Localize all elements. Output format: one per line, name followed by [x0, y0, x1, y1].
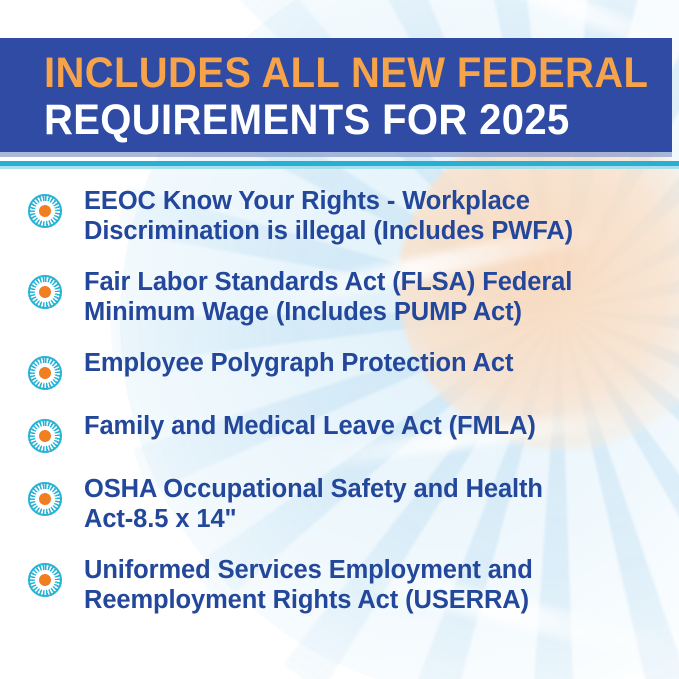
requirements-list: EEOC Know Your Rights - Workplace Discri… [28, 186, 668, 636]
starburst-icon [28, 194, 62, 228]
list-item: EEOC Know Your Rights - Workplace Discri… [28, 186, 668, 246]
list-item: Fair Labor Standards Act (FLSA) Federal … [28, 267, 668, 327]
list-item-label: Family and Medical Leave Act (FMLA) [84, 411, 668, 441]
list-item-label: Employee Polygraph Protection Act [84, 348, 668, 378]
list-item-label: Fair Labor Standards Act (FLSA) Federal … [84, 267, 668, 327]
list-item: Uniformed Services Employment and Reempl… [28, 555, 668, 615]
starburst-icon [28, 482, 62, 516]
list-item-label: OSHA Occupational Safety and Health Act-… [84, 474, 668, 534]
list-item: OSHA Occupational Safety and Health Act-… [28, 474, 668, 534]
banner-headline-primary: INCLUDES ALL NEW FEDERAL [44, 50, 628, 96]
header-banner: INCLUDES ALL NEW FEDERAL REQUIREMENTS FO… [0, 38, 672, 152]
list-item: Family and Medical Leave Act (FMLA) [28, 411, 668, 453]
list-item-label: EEOC Know Your Rights - Workplace Discri… [84, 186, 668, 246]
banner-underline-strip [0, 152, 672, 157]
banner-headline-secondary: REQUIREMENTS FOR 2025 [44, 96, 628, 144]
list-item-label: Uniformed Services Employment and Reempl… [84, 555, 668, 615]
federal-requirements-poster: INCLUDES ALL NEW FEDERAL REQUIREMENTS FO… [0, 0, 679, 679]
starburst-icon [28, 356, 62, 390]
list-item: Employee Polygraph Protection Act [28, 348, 668, 390]
starburst-icon [28, 419, 62, 453]
starburst-icon [28, 275, 62, 309]
starburst-icon [28, 563, 62, 597]
cyan-divider-rule-soft [0, 166, 679, 169]
